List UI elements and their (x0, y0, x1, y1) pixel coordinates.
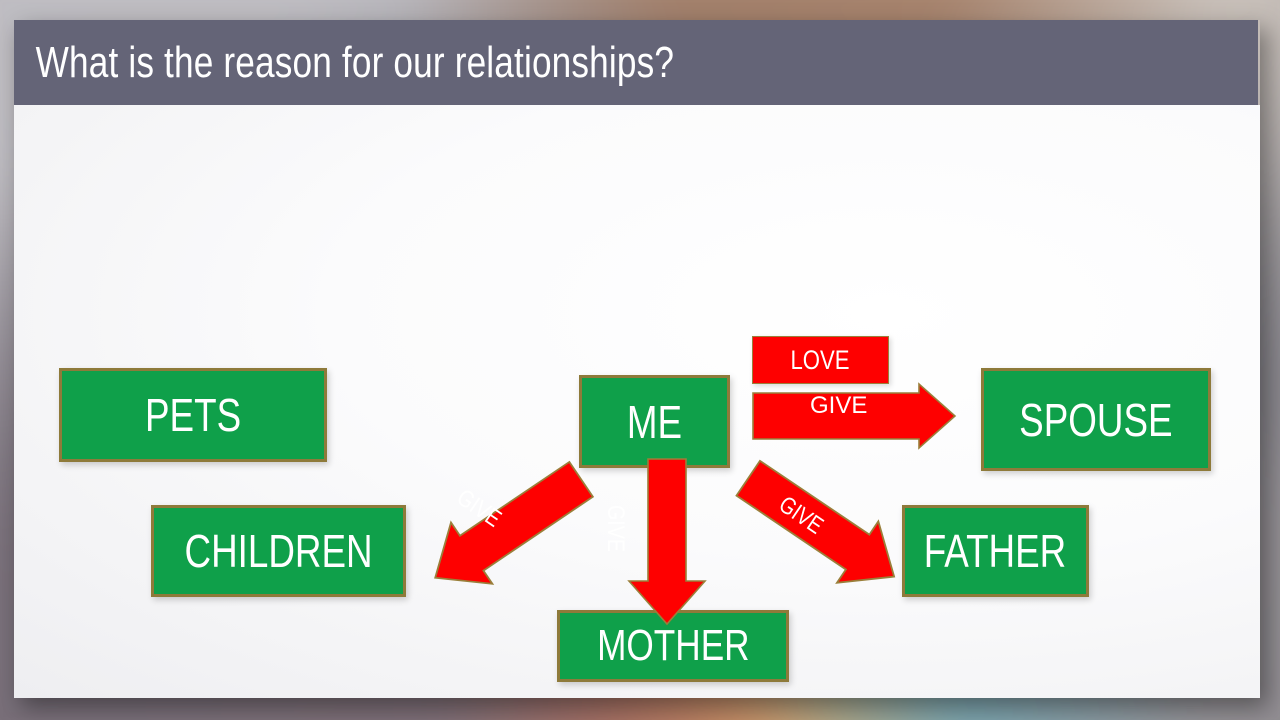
node-mother-label: MOTHER (597, 621, 750, 671)
node-father-label: FATHER (924, 524, 1066, 578)
slide-canvas: What is the reason for our relationships… (14, 20, 1260, 698)
node-children-label: CHILDREN (184, 524, 372, 578)
arrow-me-to-spouse[interactable]: GIVE (752, 383, 956, 450)
love-badge[interactable]: LOVE (752, 336, 889, 384)
arrow-me-to-father[interactable]: GIVE (727, 458, 917, 598)
page-title: What is the reason for our relationships… (14, 38, 674, 88)
node-spouse[interactable]: SPOUSE (981, 368, 1211, 471)
node-pets-label: PETS (145, 388, 241, 442)
node-spouse-label: SPOUSE (1019, 393, 1172, 447)
arrow-me-to-children[interactable]: GIVE (414, 458, 604, 598)
node-me[interactable]: ME (579, 375, 730, 468)
node-me-label: ME (627, 395, 682, 449)
node-pets[interactable]: PETS (59, 368, 327, 462)
slide-content-area: PETS ME SPOUSE CHILDREN FATHER MOTHER LO… (14, 105, 1260, 698)
slide-title-bar: What is the reason for our relationships… (14, 20, 1258, 105)
node-father[interactable]: FATHER (902, 505, 1089, 597)
node-children[interactable]: CHILDREN (151, 505, 406, 597)
arrow-me-to-mother[interactable]: GIVE (617, 458, 707, 626)
love-badge-label: LOVE (791, 345, 850, 376)
